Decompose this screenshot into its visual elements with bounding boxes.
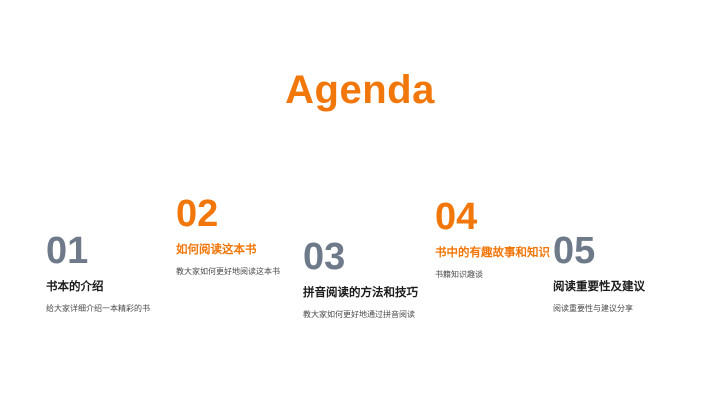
agenda-item-description: 给大家详细介绍一本精彩的书 — [46, 304, 150, 314]
agenda-item-title: 书本的介绍 — [46, 281, 150, 295]
agenda-item-title: 书中的有趣故事和知识 — [435, 247, 550, 261]
agenda-item-description: 教大家如何更好地阅读这本书 — [176, 267, 280, 277]
agenda-item-title: 拼音阅读的方法和技巧 — [303, 287, 418, 301]
agenda-item-description: 书籍知识趣谈 — [435, 270, 550, 280]
agenda-item-number: 02 — [176, 195, 280, 233]
agenda-item-number: 05 — [553, 232, 645, 270]
agenda-item-number: 01 — [46, 232, 150, 270]
agenda-item-02[interactable]: 02 如何阅读这本书 教大家如何更好地阅读这本书 — [176, 195, 280, 276]
agenda-item-03[interactable]: 03 拼音阅读的方法和技巧 教大家如何更好地通过拼音阅读 — [303, 238, 418, 319]
agenda-item-description: 教大家如何更好地通过拼音阅读 — [303, 310, 418, 320]
agenda-item-description: 阅读重要性与建议分享 — [553, 304, 645, 314]
agenda-slide: Agenda 01 书本的介绍 给大家详细介绍一本精彩的书 02 如何阅读这本书… — [0, 0, 720, 404]
agenda-item-number: 03 — [303, 238, 418, 276]
agenda-item-title: 如何阅读这本书 — [176, 244, 280, 258]
agenda-item-05[interactable]: 05 阅读重要性及建议 阅读重要性与建议分享 — [553, 232, 645, 313]
agenda-item-number: 04 — [435, 198, 550, 236]
agenda-item-04[interactable]: 04 书中的有趣故事和知识 书籍知识趣谈 — [435, 198, 550, 279]
agenda-item-title: 阅读重要性及建议 — [553, 281, 645, 295]
agenda-items-row: 01 书本的介绍 给大家详细介绍一本精彩的书 02 如何阅读这本书 教大家如何更… — [0, 190, 720, 340]
agenda-item-01[interactable]: 01 书本的介绍 给大家详细介绍一本精彩的书 — [46, 232, 150, 313]
page-title: Agenda — [0, 68, 720, 112]
